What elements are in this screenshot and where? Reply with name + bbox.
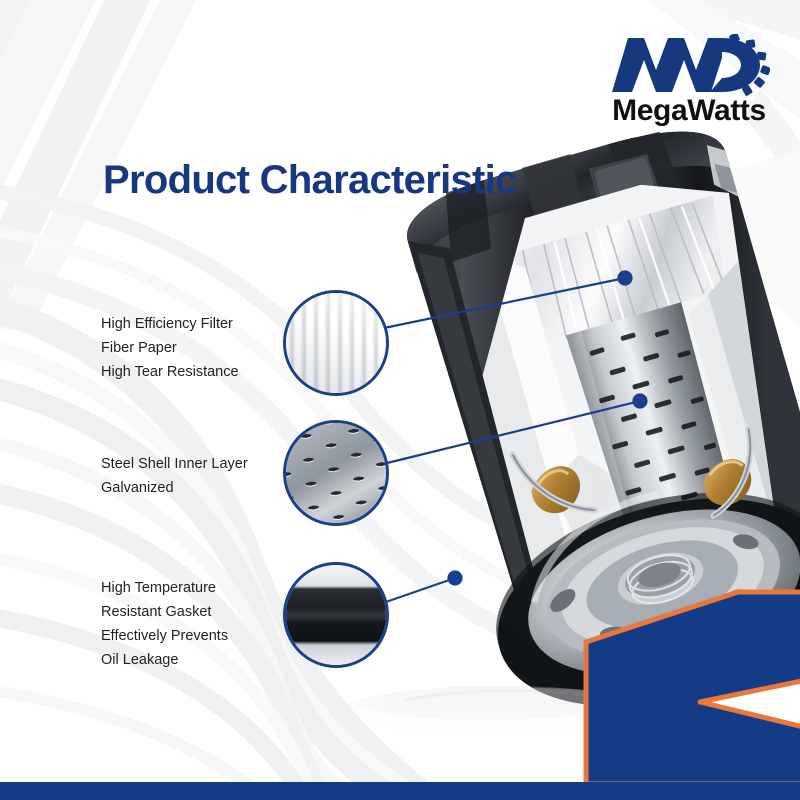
brand-wordmark: MegaWatts (596, 96, 782, 126)
leader-dot-steel-shell (634, 395, 647, 408)
zoom-image-pleated-filter-paper (286, 293, 386, 393)
bottom-bar (0, 782, 800, 800)
zoom-image-galvanized-steel-mesh (286, 423, 386, 523)
feature-line: Fiber Paper (101, 336, 239, 360)
feature-text-gasket: High Temperature Resistant Gasket Effect… (101, 576, 228, 672)
infographic-canvas: MegaWatts Product Characteristic High Ef… (0, 0, 800, 800)
leader-dot-gasket (449, 572, 462, 585)
callout-bubble-gasket[interactable] (283, 562, 389, 668)
megawatts-mm-gear-icon (610, 34, 770, 96)
brand-logo: MegaWatts (596, 34, 782, 142)
feature-line: Resistant Gasket (101, 600, 228, 624)
leader-line-filter-paper (384, 278, 625, 328)
feature-line: High Temperature (101, 576, 228, 600)
chevron-banner (576, 584, 800, 784)
feature-text-steel-shell: Steel Shell Inner Layer Galvanized (101, 452, 248, 500)
leader-dot-filter-paper (619, 272, 632, 285)
zoom-image-rubber-gasket (286, 565, 386, 665)
feature-line: Steel Shell Inner Layer (101, 452, 248, 476)
callout-bubble-filter-paper[interactable] (283, 290, 389, 396)
leader-line-gasket (383, 578, 455, 603)
feature-line: Effectively Prevents (101, 624, 228, 648)
feature-line: High Efficiency Filter (101, 312, 239, 336)
feature-line: High Tear Resistance (101, 360, 239, 384)
feature-line: Oil Leakage (101, 648, 228, 672)
leader-line-steel-shell (383, 401, 640, 464)
feature-line: Galvanized (101, 476, 248, 500)
feature-text-filter-paper: High Efficiency Filter Fiber Paper High … (101, 312, 239, 384)
callout-bubble-steel-shell[interactable] (283, 420, 389, 526)
page-title: Product Characteristic (103, 158, 517, 203)
